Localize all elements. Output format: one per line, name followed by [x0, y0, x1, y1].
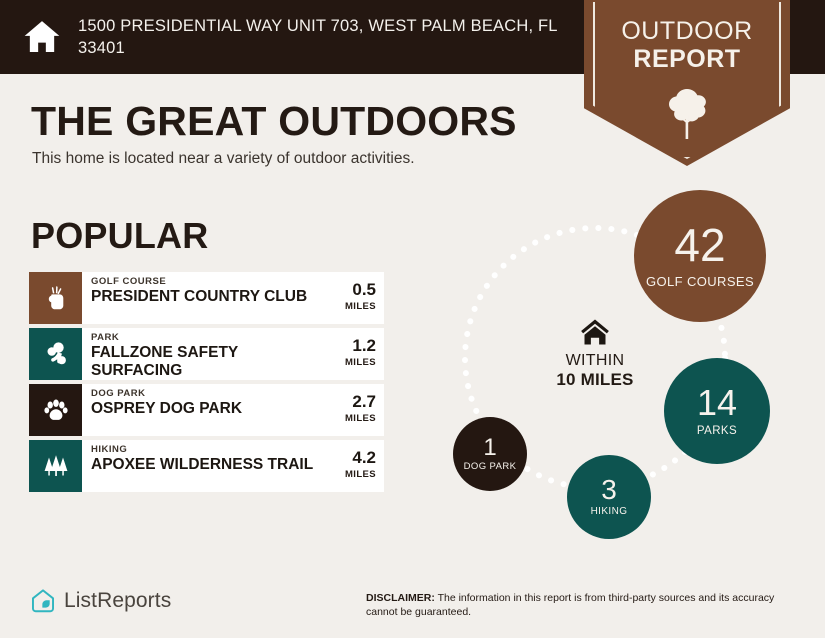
poi-text: GOLF COURSE PRESIDENT COUNTRY CLUB: [82, 272, 330, 324]
poi-text: PARK FALLZONE SAFETY SURFACING: [82, 328, 330, 380]
park-tree-icon: [42, 340, 70, 368]
poi-category: HIKING: [91, 445, 326, 455]
stat-circle-parks[interactable]: 14 PARKS: [664, 358, 770, 464]
stat-label: DOG PARK: [464, 462, 517, 472]
poi-name: APOXEE WILDERNESS TRAIL: [91, 456, 326, 473]
poi-distance-unit: MILES: [330, 301, 376, 312]
poi-name: FALLZONE SAFETY SURFACING: [91, 344, 326, 379]
poi-icon-tile: [29, 272, 82, 324]
poi-name: OSPREY DOG PARK: [91, 400, 326, 417]
stat-label: GOLF COURSES: [646, 275, 754, 289]
popular-list: GOLF COURSE PRESIDENT COUNTRY CLUB 0.5 M…: [29, 272, 384, 496]
stat-circle-hiking[interactable]: 3 HIKING: [567, 455, 651, 539]
center-label-line-2: 10 MILES: [530, 370, 660, 389]
disclaimer: DISCLAIMER: The information in this repo…: [366, 591, 806, 619]
list-item[interactable]: GOLF COURSE PRESIDENT COUNTRY CLUB 0.5 M…: [29, 272, 384, 324]
poi-distance-value: 2.7: [330, 393, 376, 410]
golf-bag-icon: [42, 284, 70, 312]
listreports-logo[interactable]: ListReports: [30, 588, 171, 614]
disclaimer-label: DISCLAIMER:: [366, 592, 435, 604]
home-icon: [22, 17, 62, 57]
stat-label: HIKING: [591, 507, 628, 518]
poi-distance-unit: MILES: [330, 413, 376, 424]
home-icon: [580, 318, 610, 346]
poi-category: DOG PARK: [91, 389, 326, 399]
stat-value: 14: [697, 385, 737, 420]
poi-distance-value: 4.2: [330, 449, 376, 466]
poi-distance-unit: MILES: [330, 357, 376, 368]
badge-line-2: REPORT: [584, 46, 790, 74]
paw-icon: [42, 396, 70, 424]
poi-distance: 2.7 MILES: [330, 384, 384, 436]
badge-text: OUTDOOR REPORT: [584, 18, 790, 73]
poi-text: HIKING APOXEE WILDERNESS TRAIL: [82, 440, 330, 492]
stat-label: PARKS: [697, 425, 737, 437]
diagram-center-label: WITHIN 10 MILES: [530, 318, 660, 389]
popular-heading: POPULAR: [31, 215, 208, 257]
poi-icon-tile: [29, 328, 82, 380]
poi-icon-tile: [29, 384, 82, 436]
badge-line-1: OUTDOOR: [584, 18, 790, 46]
poi-category: PARK: [91, 333, 326, 343]
poi-icon-tile: [29, 440, 82, 492]
poi-distance: 0.5 MILES: [330, 272, 384, 324]
stat-value: 3: [601, 476, 617, 503]
poi-distance: 1.2 MILES: [330, 328, 384, 380]
poi-name: PRESIDENT COUNTRY CLUB: [91, 288, 326, 305]
pine-trees-icon: [42, 452, 70, 480]
poi-distance-unit: MILES: [330, 469, 376, 480]
stat-circle-dog-park[interactable]: 1 DOG PARK: [453, 417, 527, 491]
page-title: THE GREAT OUTDOORS: [31, 98, 517, 145]
stat-value: 1: [483, 436, 496, 460]
list-item[interactable]: HIKING APOXEE WILDERNESS TRAIL 4.2 MILES: [29, 440, 384, 492]
tree-icon: [663, 85, 711, 141]
stat-value: 42: [674, 223, 725, 268]
property-address: 1500 PRESIDENTIAL WAY UNIT 703, WEST PAL…: [78, 15, 578, 60]
listreports-brand-text: ListReports: [64, 589, 171, 613]
page-subtitle: This home is located near a variety of o…: [32, 150, 415, 168]
list-item[interactable]: PARK FALLZONE SAFETY SURFACING 1.2 MILES: [29, 328, 384, 380]
poi-distance-value: 1.2: [330, 337, 376, 354]
listreports-house-icon: [30, 588, 56, 614]
list-item[interactable]: DOG PARK OSPREY DOG PARK 2.7 MILES: [29, 384, 384, 436]
poi-category: GOLF COURSE: [91, 277, 326, 287]
center-label-line-1: WITHIN: [530, 352, 660, 370]
poi-distance-value: 0.5: [330, 281, 376, 298]
stat-circle-golf-courses[interactable]: 42 GOLF COURSES: [634, 190, 766, 322]
poi-distance: 4.2 MILES: [330, 440, 384, 492]
poi-text: DOG PARK OSPREY DOG PARK: [82, 384, 330, 436]
